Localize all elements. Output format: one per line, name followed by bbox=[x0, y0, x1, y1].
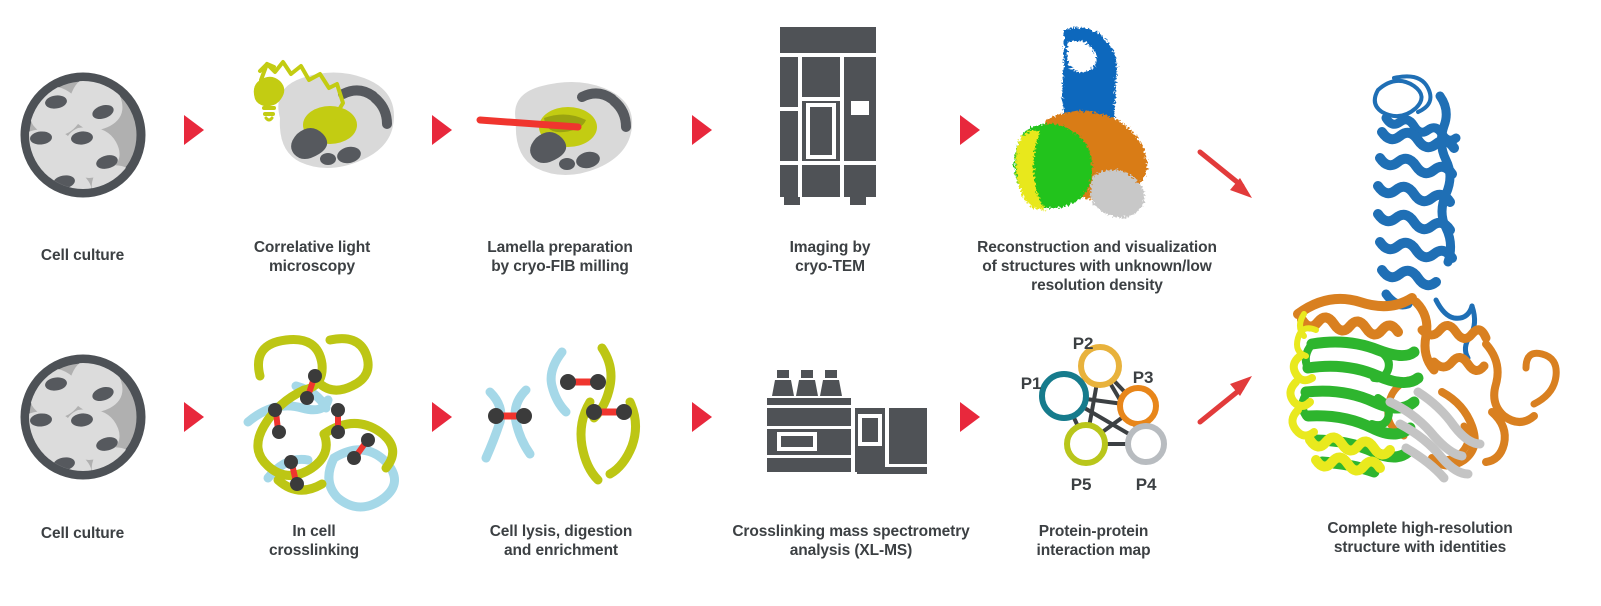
network-label-p2: P2 bbox=[1068, 334, 1098, 353]
petri-dish-icon-top bbox=[18, 70, 148, 200]
network-node-p4 bbox=[1128, 426, 1164, 462]
cryo-em-density-map-icon bbox=[1008, 24, 1178, 214]
arrow-triangle-icon bbox=[182, 400, 208, 434]
caption-interaction-map: Protein-protein interaction map bbox=[1016, 522, 1171, 560]
arrow-triangle-icon bbox=[182, 113, 208, 147]
caption-in-cell-crosslinking: In cell crosslinking bbox=[238, 522, 390, 560]
caption-lamella-preparation: Lamella preparation by cryo-FIB milling bbox=[462, 238, 658, 276]
caption-cell-culture-top: Cell culture bbox=[0, 246, 165, 265]
caption-cell-lysis-digestion: Cell lysis, digestion and enrichment bbox=[468, 522, 654, 560]
arrow-down-right-icon bbox=[1196, 148, 1262, 204]
crosslinked-proteins-icon bbox=[238, 330, 408, 505]
arrow-triangle-icon bbox=[430, 400, 456, 434]
cell-with-lightbulb-icon bbox=[225, 58, 400, 183]
caption-correlative-light-microscopy: Correlative light microscopy bbox=[228, 238, 396, 276]
cell-with-fib-beam-icon bbox=[478, 80, 658, 185]
caption-complete-structure: Complete high-resolution structure with … bbox=[1270, 519, 1570, 557]
caption-reconstruction-visualization: Reconstruction and visualization of stru… bbox=[952, 238, 1242, 295]
arrow-up-right-icon bbox=[1196, 372, 1262, 428]
caption-cell-culture-bottom: Cell culture bbox=[0, 524, 165, 543]
caption-imaging-cryo-tem: Imaging by cryo-TEM bbox=[756, 238, 904, 276]
arrow-triangle-icon bbox=[958, 113, 984, 147]
network-node-p3 bbox=[1120, 388, 1156, 424]
arrow-triangle-icon bbox=[958, 400, 984, 434]
arrow-triangle-icon bbox=[430, 113, 456, 147]
protein-network-icon bbox=[1012, 334, 1192, 504]
protein-ribbon-structure-icon bbox=[1282, 62, 1562, 492]
network-label-p4: P4 bbox=[1131, 475, 1161, 494]
network-node-p1 bbox=[1042, 374, 1086, 418]
network-label-p3: P3 bbox=[1128, 368, 1158, 387]
crosslinked-peptides-icon bbox=[478, 340, 653, 500]
workflow-diagram: Cell culture Correlative light microscop… bbox=[0, 0, 1601, 606]
arrow-triangle-icon bbox=[690, 400, 716, 434]
mass-spectrometer-icon bbox=[753, 368, 928, 474]
caption-xl-ms-analysis: Crosslinking mass spectrometry analysis … bbox=[700, 522, 1002, 560]
network-node-p5 bbox=[1067, 425, 1105, 463]
network-label-p1: P1 bbox=[1016, 374, 1046, 393]
petri-dish-icon-bottom bbox=[18, 352, 148, 482]
arrow-triangle-icon bbox=[690, 113, 716, 147]
cryo-tem-microscope-icon bbox=[772, 27, 884, 209]
network-label-p5: P5 bbox=[1066, 475, 1096, 494]
